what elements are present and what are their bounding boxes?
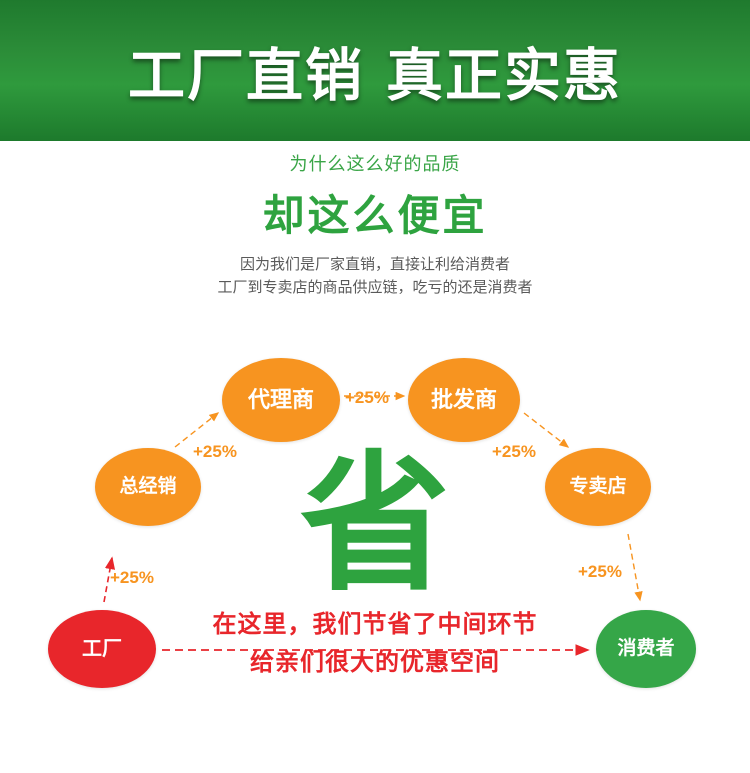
intro-section: 为什么这么好的品质 却这么便宜 因为我们是厂家直销，直接让利给消费者 工厂到专卖…	[0, 150, 750, 299]
node-specialty-shop: 专卖店	[545, 448, 651, 526]
markup-label-2: +25%	[193, 442, 237, 462]
intro-subtitle: 为什么这么好的品质	[0, 150, 750, 176]
intro-headline: 却这么便宜	[0, 182, 750, 243]
banner-title-part1: 工厂直销	[128, 43, 364, 109]
intro-line-1: 因为我们是厂家直销，直接让利给消费者	[0, 253, 750, 276]
node-wholesaler-label: 批发商	[431, 387, 497, 412]
bottom-message: 在这里，我们节省了中间环节 给亲们很大的优惠空间	[0, 605, 750, 681]
intro-line-2: 工厂到专卖店的商品供应链，吃亏的还是消费者	[0, 276, 750, 299]
node-wholesaler: 批发商	[408, 358, 520, 442]
supply-chain-diagram: 省 工厂 总经销 代理商 批发商 专卖店 消费者 +25% +25% +25% …	[0, 330, 750, 730]
markup-label-4: +25%	[492, 442, 536, 462]
markup-label-3: +25%	[345, 388, 389, 408]
bottom-message-line-2: 给亲们很大的优惠空间	[0, 643, 750, 681]
banner-title-part2: 真正实惠	[386, 43, 622, 109]
node-agent: 代理商	[222, 358, 340, 442]
header-banner: 工厂直销真正实惠	[0, 0, 750, 141]
markup-label-1: +25%	[110, 568, 154, 588]
node-shop-label: 专卖店	[569, 476, 626, 498]
bottom-message-line-1: 在这里，我们节省了中间环节	[0, 605, 750, 643]
banner-title: 工厂直销真正实惠	[128, 30, 622, 112]
node-master-distributor: 总经销	[95, 448, 201, 526]
markup-label-5: +25%	[578, 562, 622, 582]
node-master-label: 总经销	[119, 476, 176, 498]
node-agent-label: 代理商	[248, 387, 314, 412]
